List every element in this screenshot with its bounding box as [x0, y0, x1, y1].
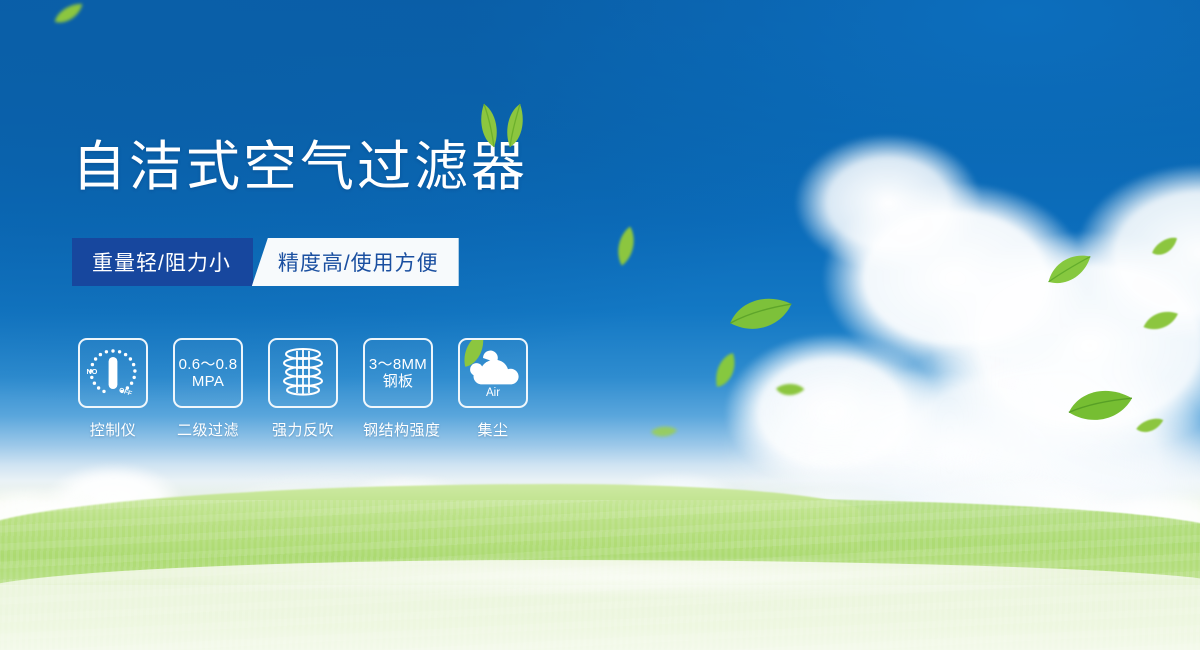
feature-item-backflush: 强力反吹: [268, 338, 338, 440]
tag-weight-resistance: 重量轻/阻力小: [72, 238, 253, 286]
title-block: 自洁式空气过滤器: [72, 140, 528, 194]
gauge-dial-icon: NO OFF: [78, 338, 148, 408]
tag-primary-label: 重量轻/阻力小: [92, 247, 231, 277]
steel-line2: 钢板: [369, 373, 427, 390]
tag-secondary-label: 精度高/使用方便: [278, 247, 439, 277]
feature-label: 控制仪: [78, 419, 148, 440]
pressure-line1: 0.6～0.8: [179, 356, 238, 373]
feature-item-dust-collection: Air 集尘: [458, 338, 528, 440]
cloud-air-icon: Air: [458, 338, 528, 408]
steel-plate-value-icon: 3～8MM 钢板: [363, 338, 433, 408]
page-title: 自洁式空气过滤器: [72, 140, 528, 194]
feature-row: NO OFF 控制仪 0.6～0.8 MPA 二级过滤: [78, 338, 528, 440]
filter-cartridge-icon: [268, 338, 338, 408]
hero-banner: 自洁式空气过滤器 重量轻/阻力小 精度高/使用方便: [0, 0, 1200, 650]
pressure-value-icon: 0.6～0.8 MPA: [173, 338, 243, 408]
tag-row: 重量轻/阻力小 精度高/使用方便: [72, 238, 459, 286]
tag-precision-convenience: 精度高/使用方便: [252, 238, 459, 286]
feature-label: 强力反吹: [268, 419, 338, 440]
feature-item-controller: NO OFF 控制仪: [78, 338, 148, 440]
sprout-leaves-icon: [470, 102, 532, 148]
svg-text:NO: NO: [87, 367, 98, 376]
svg-text:OFF: OFF: [118, 387, 133, 398]
feature-label: 集尘: [458, 419, 528, 440]
steel-line1: 3～8MM: [369, 356, 427, 373]
cloud-air-label: Air: [486, 387, 500, 399]
feature-label: 钢结构强度: [363, 419, 433, 440]
feature-label: 二级过滤: [173, 419, 243, 440]
feature-item-secondary-filter: 0.6～0.8 MPA 二级过滤: [173, 338, 243, 440]
feature-item-steel-strength: 3～8MM 钢板 钢结构强度: [363, 338, 433, 440]
pressure-line2: MPA: [179, 373, 238, 390]
